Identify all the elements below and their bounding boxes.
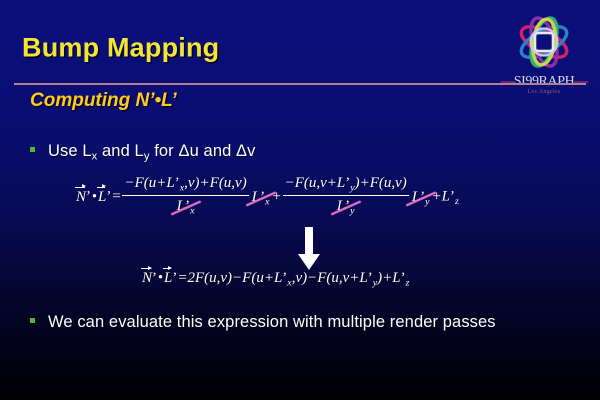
eq1-tail-l: L xyxy=(442,189,450,205)
siggraph-logo: —SI99RAPH— Los Angeles xyxy=(492,12,596,104)
eq1-numy-sub: y xyxy=(350,183,354,194)
eq1-equals: = xyxy=(111,189,121,205)
eq1-fraction-x-denominator: L’x xyxy=(122,196,248,217)
eq2-vector-n: N xyxy=(142,269,152,287)
logo-dash-right: — xyxy=(574,74,587,89)
sub-y: y xyxy=(144,151,150,163)
bullet-item-1: Use Lx and Ly for Δu and Δv xyxy=(30,142,256,163)
eq1-factorx-sub: x xyxy=(265,196,269,207)
eq1-dot-operator: • xyxy=(91,189,98,205)
eq1-plus-1: + xyxy=(271,189,281,205)
eq1-cancelled-factor-x: L’x xyxy=(250,189,272,208)
eq1-denx-sub: x xyxy=(190,206,194,217)
eq1-fraction-y: −F(u,v+L’y)+F(u,v)L’y xyxy=(283,175,409,217)
eq2-dot-operator: • xyxy=(157,270,164,286)
logo-wordmark-text: SI99RAPH xyxy=(514,74,575,89)
eq2-part-2: ,v)−F(u,v+L xyxy=(292,270,368,286)
eq1-factory-sub: y xyxy=(425,196,429,207)
logo-dash-left: — xyxy=(501,74,514,89)
bullet-marker-icon xyxy=(30,147,35,152)
eq2-sub-z: z xyxy=(406,278,410,289)
eq2-equals: = xyxy=(177,270,187,286)
bullet-item-1-label: Use Lx and Ly for Δu and Δv xyxy=(48,142,256,163)
sub-x: x xyxy=(92,151,98,163)
eq2-vector-l: L xyxy=(164,269,172,287)
down-arrow-icon xyxy=(296,227,322,271)
eq1-fraction-y-denominator: L’y xyxy=(283,196,409,217)
bullet-item-2-label: We can evaluate this expression with mul… xyxy=(48,313,496,332)
eq1-cancelled-factor-y: L’y xyxy=(410,189,432,208)
eq1-tail-sub: z xyxy=(455,196,459,207)
eq1-fraction-x: −F(u+L’x,v)+F(u,v)L’x xyxy=(122,175,248,217)
eq1-fraction-x-numerator: −F(u+L’x,v)+F(u,v) xyxy=(122,175,248,196)
eq2-part-1: 2F(u,v)−F(u+L xyxy=(187,270,282,286)
logo-rings-icon xyxy=(492,12,596,74)
logo-sublabel: Los Angeles xyxy=(492,89,596,95)
bullet-marker-icon xyxy=(30,318,35,323)
eq1-fraction-y-numerator: −F(u,v+L’y)+F(u,v) xyxy=(283,175,409,196)
eq1-cancelled-denominator-x: L’x xyxy=(175,197,197,217)
equation-1: N’•L’=−F(u+L’x,v)+F(u,v)L’xL’x+−F(u,v+L’… xyxy=(76,176,459,218)
eq1-deny-sub: y xyxy=(350,206,354,217)
eq1-vector-l: L xyxy=(98,188,106,206)
bullet-item-2: We can evaluate this expression with mul… xyxy=(30,313,496,332)
eq1-numx-sub: x xyxy=(180,183,184,194)
page-subtitle: Computing N’•L’ xyxy=(30,90,177,112)
eq1-cancelled-denominator-y: L’y xyxy=(335,197,357,217)
eq2-part-3: )+L xyxy=(377,270,400,286)
equation-2: N’•L’=2F(u,v)−F(u+L’x,v)−F(u,v+L’y)+L’z xyxy=(142,269,409,289)
title-divider xyxy=(14,83,586,85)
page-title: Bump Mapping xyxy=(22,33,219,64)
logo-wordmark: —SI99RAPH— xyxy=(492,74,596,90)
slide-canvas: —SI99RAPH— Los Angeles Bump Mapping Comp… xyxy=(0,0,600,400)
eq1-vector-n: N xyxy=(76,188,86,206)
